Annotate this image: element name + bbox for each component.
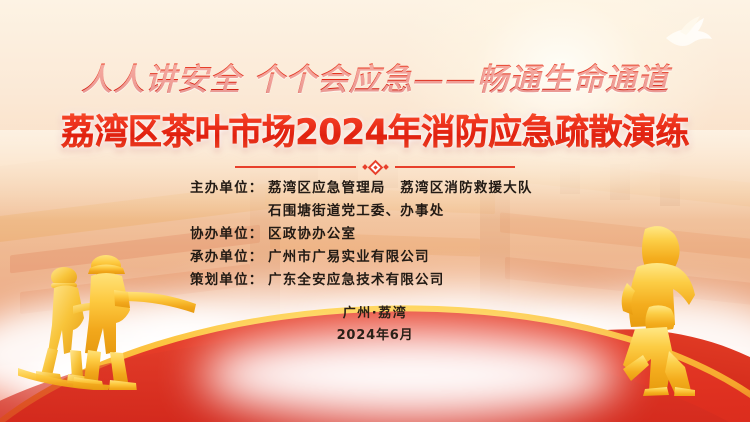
organizer-label: 协办单位：: [190, 222, 268, 242]
organizer-value: 荔湾区应急管理局 荔湾区消防救援大队: [268, 176, 560, 196]
poster-canvas: 人人讲安全 个个会应急——畅通生命通道 荔湾区茶叶市场2024年消防应急疏散演练…: [0, 0, 750, 422]
organizer-value: 石围塘街道党工委、办事处: [268, 199, 560, 219]
organizer-value: 广州市广易实业有限公司: [268, 245, 560, 265]
organizers-block: 主办单位： 荔湾区应急管理局 荔湾区消防救援大队 主办单位： 石围塘街道党工委、…: [0, 176, 750, 288]
location-text: 广州·荔湾: [0, 303, 750, 325]
organizer-row-undertaker: 承办单位： 广州市广易实业有限公司: [190, 245, 560, 265]
divider-line-left: [235, 166, 356, 167]
divider-line-right: [395, 166, 516, 167]
divider-ornament: [363, 162, 388, 173]
organizer-row-host-2: 主办单位： 石围塘街道党工委、办事处: [190, 199, 560, 219]
organizer-value: 区政协办公室: [268, 222, 560, 242]
organizer-value: 广东全安应急技术有限公司: [268, 268, 560, 288]
organizer-row-coorganizer: 协办单位： 区政协办公室: [190, 222, 560, 242]
organizer-label: 策划单位：: [190, 268, 268, 288]
organizer-row-host-1: 主办单位： 荔湾区应急管理局 荔湾区消防救援大队: [190, 176, 560, 196]
slogan-text: 人人讲安全 个个会应急——畅通生命通道: [0, 54, 750, 99]
poster-text-layer: 人人讲安全 个个会应急——畅通生命通道 荔湾区茶叶市场2024年消防应急疏散演练…: [0, 0, 750, 422]
ornament-diamond: [367, 159, 383, 175]
organizer-row-planner: 策划单位： 广东全安应急技术有限公司: [190, 268, 560, 288]
decorative-divider: [235, 160, 515, 174]
organizer-label: 承办单位：: [190, 245, 268, 265]
organizer-label: 主办单位：: [190, 176, 268, 196]
ornament-dot-right: [383, 164, 389, 170]
page-title: 荔湾区茶叶市场2024年消防应急疏散演练: [11, 104, 739, 155]
date-text: 2024年6月: [0, 325, 750, 347]
footer-block: 广州·荔湾 2024年6月: [0, 303, 750, 347]
